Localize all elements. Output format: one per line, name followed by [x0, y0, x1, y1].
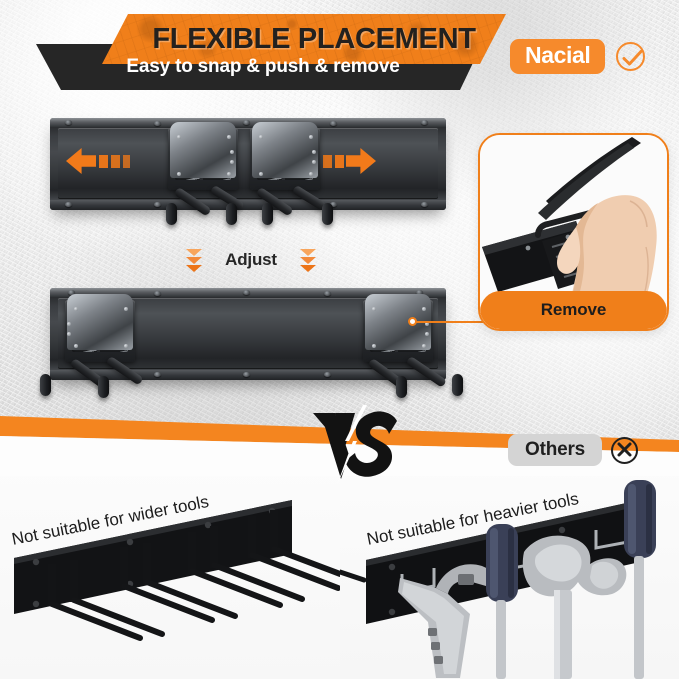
- hook-tip: [262, 203, 273, 225]
- remove-caption-label: Remove: [480, 291, 667, 329]
- hook-tip: [98, 376, 109, 398]
- brand-name-label: Nacial: [510, 39, 605, 74]
- rail-screw: [421, 202, 428, 207]
- rail-screw: [243, 372, 250, 377]
- rail-screw: [243, 120, 250, 125]
- arrow-left-icon: [66, 148, 126, 174]
- hook-tip: [166, 203, 177, 225]
- black-rack-with-tools: [340, 452, 679, 679]
- hook-tip: [40, 374, 51, 396]
- remove-callout-panel: Remove: [478, 133, 669, 331]
- hook-module: [250, 128, 320, 190]
- rail-screw: [324, 372, 331, 377]
- page-subtitle: Easy to snap & push & remove: [58, 44, 468, 90]
- rail-screw: [154, 121, 161, 126]
- rail-screw: [421, 120, 428, 125]
- hotspot-dot-icon: [408, 317, 417, 326]
- hook-module: [65, 300, 135, 362]
- chevron-down-icon: [300, 249, 316, 272]
- rail-screw: [154, 202, 161, 207]
- comparison-left: Not suitable for wider tools: [0, 452, 340, 679]
- hook-tip: [322, 203, 333, 225]
- black-pin-rack: [0, 452, 340, 679]
- header-banner: FLEXIBLE PLACEMENT Easy to snap & push &…: [36, 14, 506, 92]
- chevron-down-icon: [186, 249, 202, 272]
- adjust-label: Adjust: [225, 250, 277, 270]
- hook-tip: [226, 203, 237, 225]
- others-label: Others: [508, 434, 602, 466]
- others-badge: Others: [508, 434, 638, 466]
- rail-screw: [324, 291, 331, 296]
- x-circle-icon: [611, 437, 638, 464]
- hook-tip: [452, 374, 463, 396]
- adjust-indicator: Adjust: [186, 240, 316, 280]
- rail-screw: [65, 120, 72, 125]
- vs-badge: [311, 405, 397, 479]
- callout-connector-line: [416, 321, 486, 323]
- infographic-stage: Adjust: [0, 0, 679, 679]
- rail-screw: [65, 202, 72, 207]
- arrow-right-icon: [312, 148, 378, 174]
- comparison-section: Not suitable for wider tools: [0, 452, 679, 679]
- rail-screw: [330, 121, 337, 126]
- brand-badge: Nacial: [510, 39, 645, 74]
- hook-module: [168, 128, 238, 190]
- rail-screw: [154, 291, 161, 296]
- hook-tip: [396, 376, 407, 398]
- hook-module: [363, 300, 433, 362]
- rail-bottom-lip: [50, 200, 446, 210]
- rail-screw: [243, 290, 250, 295]
- comparison-right: Not suitable for heavier tools: [340, 452, 679, 679]
- rail-screw: [154, 372, 161, 377]
- check-circle-icon: [616, 42, 645, 71]
